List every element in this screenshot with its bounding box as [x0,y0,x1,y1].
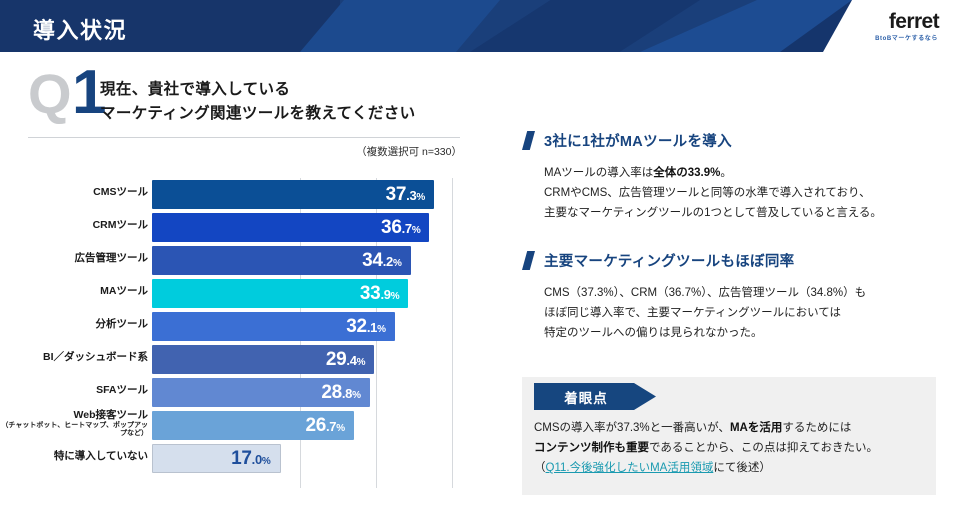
bar: 32.1% [152,312,395,341]
bar-chart: CMSツール37.3%CRMツール36.7%広告管理ツール34.2%MAツール3… [0,170,500,500]
question-line-1: 現在、貴社で導入している [100,78,416,102]
bar: 33.9% [152,279,408,308]
bar-category-label: 特に導入していない [0,450,148,462]
table-row: Web接客ツール（チャットボット、ヒートマップ、ポップアップなど）26.7% [0,409,500,442]
bar: 34.2% [152,246,411,275]
insight-panel: 着眼点 CMSの導入率が37.3%と一番高いが、MAを活用するためにはコンテンツ… [522,377,936,495]
bar-category-label: MAツール [0,285,148,297]
section-heading: 3社に1社がMAツールを導入 [544,130,732,151]
bar: 26.7% [152,411,354,440]
insight-badge-label: 着眼点 [564,387,608,407]
section-body: CMS（37.3%）、CRM（36.7%）、広告管理ツール（34.8%）もほぼ同… [544,284,866,343]
bar-value-label: 36.7% [381,217,429,239]
bar-value-label: 32.1% [346,316,394,338]
section-heading-row: 主要マーケティングツールもほぼ同率 [522,250,866,271]
table-row: CRMツール36.7% [0,211,500,244]
bar-category-sublabel: （チャットボット、ヒートマップ、ポップアップなど） [0,422,148,439]
bar: 29.4% [152,345,374,374]
bar-category-label: 広告管理ツール [0,252,148,264]
bar-category-label: CMSツール [0,186,148,198]
slash-icon [522,251,535,270]
bar-value-label: 26.7% [305,415,353,437]
sample-note: （複数選択可 n=330） [330,144,462,159]
insight-section-2: 主要マーケティングツールもほぼ同率 CMS（37.3%）、CRM（36.7%）、… [522,250,866,343]
bar-category-label: SFAツール [0,384,148,396]
question-letter: Q [28,66,72,122]
bar: 36.7% [152,213,429,242]
bar-category-label: 分析ツール [0,318,148,330]
bar-value-label: 37.3% [386,184,434,206]
badge-wrapper: 着眼点 [534,383,656,410]
table-row: BI／ダッシュボード系29.4% [0,343,500,376]
bar-value-label: 28.8% [321,382,369,404]
insight-link[interactable]: Q11.今後強化したいMA活用領域 [546,462,714,474]
slide-root: 導入状況 ferret BtoBマーケするなら Q 1 現在、貴社で導入している… [0,0,955,512]
bar-value-label: 34.2% [362,250,410,272]
insight-body: CMSの導入率が37.3%と一番高いが、MAを活用するためにはコンテンツ制作も重… [534,418,928,478]
bar-category-label: CRMツール [0,219,148,231]
page-title: 導入状況 [33,13,127,45]
table-row: 広告管理ツール34.2% [0,244,500,277]
logo-tagline: BtoBマーケするなら [875,33,938,42]
insight-badge: 着眼点 [534,383,656,410]
section-heading: 主要マーケティングツールもほぼ同率 [544,250,794,271]
table-row: 特に導入していない17.0% [0,442,500,475]
question-text: 現在、貴社で導入している マーケティング関連ツールを教えてください [100,78,416,126]
bar-category-label: BI／ダッシュボード系 [0,351,148,363]
table-row: MAツール33.9% [0,277,500,310]
bar-category-label: Web接客ツール（チャットボット、ヒートマップ、ポップアップなど） [0,409,148,439]
insight-section-1: 3社に1社がMAツールを導入 MAツールの導入率は全体の33.9%。CRMやCM… [522,130,882,223]
bar: 28.8% [152,378,370,407]
section-heading-row: 3社に1社がMAツールを導入 [522,130,882,151]
bar: 17.0% [152,444,281,473]
page-header: 導入状況 ferret BtoBマーケするなら [0,0,955,52]
section-body: MAツールの導入率は全体の33.9%。CRMやCMS、広告管理ツールと同等の水準… [544,164,882,223]
slash-icon [522,131,535,150]
question-line-2: マーケティング関連ツールを教えてください [100,102,416,126]
logo-wordmark: ferret [889,10,939,34]
bar: 37.3% [152,180,434,209]
table-row: SFAツール28.8% [0,376,500,409]
question-divider [28,137,460,138]
bar-value-label: 29.4% [326,349,374,371]
bar-value-label: 17.0% [231,448,279,470]
table-row: CMSツール37.3% [0,178,500,211]
table-row: 分析ツール32.1% [0,310,500,343]
bar-value-label: 33.9% [360,283,408,305]
